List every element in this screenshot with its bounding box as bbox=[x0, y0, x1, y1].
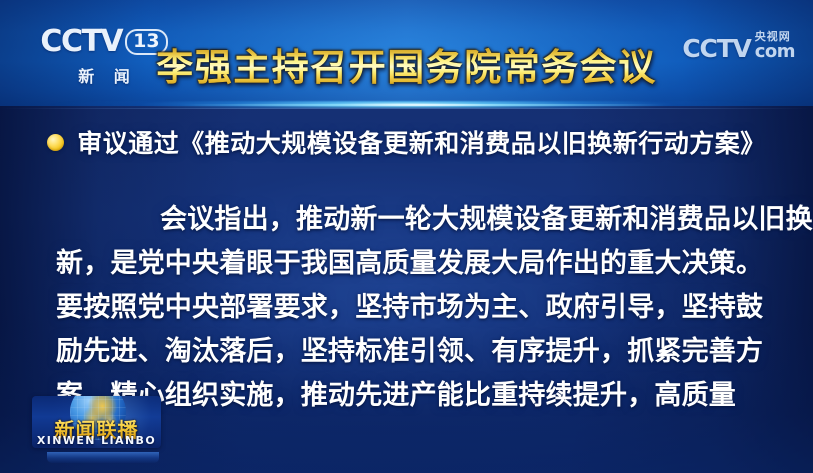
body-line: 案，精心组织实施，推动先进产能比重持续提升，高质量 bbox=[56, 374, 760, 418]
body-line: 新，是党中央着眼于我国高质量发展大局作出的重大决策。 bbox=[56, 242, 760, 286]
broadcast-screen: CCTV 13 新 闻 CCTV 央视网 com 李强主持召开国务院常务会议 审… bbox=[0, 0, 813, 473]
news-headline: 李强主持召开国务院常务会议 bbox=[0, 48, 813, 89]
program-title-en: XINWEN LIANBO bbox=[32, 434, 161, 447]
news-body-paragraph: 会议指出，推动新一轮大规模设备更新和消费品以旧换 新，是党中央着眼于我国高质量发… bbox=[56, 198, 760, 418]
news-subtitle: 审议通过《推动大规模设备更新和消费品以旧换新行动方案》 bbox=[77, 124, 766, 160]
body-line: 励先进、淘汰落后，坚持标准引领、有序提升，抓紧完善方 bbox=[56, 330, 760, 374]
header-soft-rule bbox=[0, 108, 813, 109]
subtitle-row: 审议通过《推动大规模设备更新和消费品以旧换新行动方案》 bbox=[0, 124, 813, 160]
body-line: 要按照党中央部署要求，坚持市场为主、政府引导，坚持鼓 bbox=[56, 286, 760, 330]
body-line: 会议指出，推动新一轮大规模设备更新和消费品以旧换 bbox=[56, 198, 760, 242]
xinwen-lianbo-underbar bbox=[47, 452, 159, 463]
bullet-dot-icon bbox=[47, 134, 64, 151]
header-glow-core bbox=[0, 104, 813, 106]
xinwen-lianbo-bug: 新闻联播 XINWEN LIANBO bbox=[32, 396, 161, 448]
